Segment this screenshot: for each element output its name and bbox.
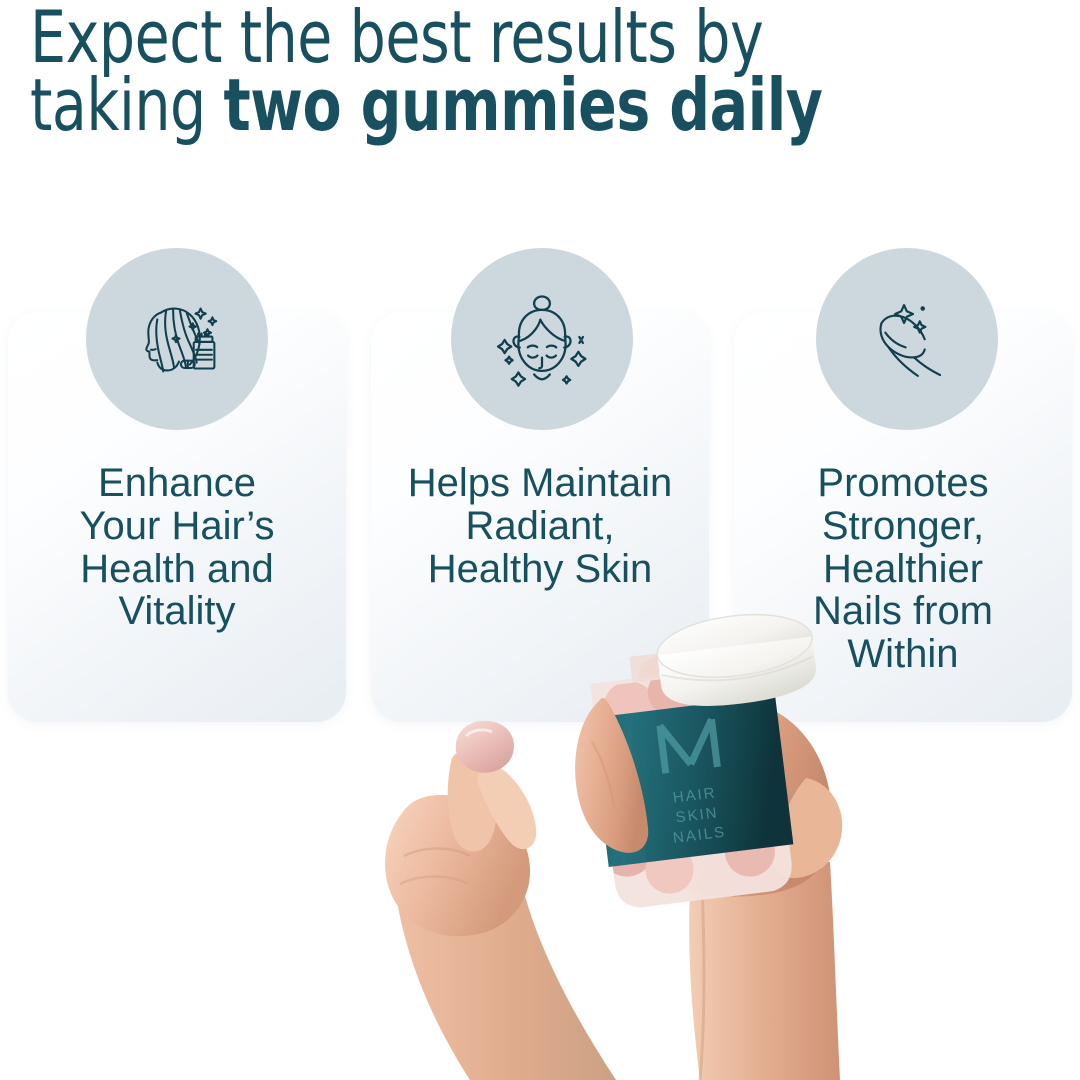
- svg-text:NAILS: NAILS: [672, 823, 727, 846]
- bottle-monogram: [660, 719, 717, 773]
- left-arm: [394, 876, 616, 1080]
- right-arm: [689, 860, 840, 1080]
- page-title: Expect the best results by taking two gu…: [30, 4, 928, 139]
- benefit-text-line: Enhance: [14, 462, 340, 505]
- benefit-card-skin-text: Helps Maintain Radiant, Healthy Skin: [371, 462, 709, 590]
- benefit-text-line: Promotes: [740, 462, 1066, 505]
- headline-line-2-light: taking: [30, 63, 223, 147]
- headline-line-2: taking two gummies daily: [30, 72, 928, 140]
- left-hand: [385, 721, 536, 936]
- headline-line-1: Expect the best results by: [30, 4, 928, 72]
- headline-line-2-bold: two gummies daily: [223, 63, 822, 147]
- held-gummy: [456, 721, 514, 773]
- benefit-text-line: Nails from: [740, 590, 1066, 633]
- svg-text:SKIN: SKIN: [675, 804, 720, 826]
- benefit-text-line: Healthier: [740, 548, 1066, 591]
- radiant-face-icon: [451, 248, 633, 430]
- benefit-text-line: Radiant,: [377, 505, 703, 548]
- benefit-card-hair-text: Enhance Your Hair’s Health and Vitality: [8, 462, 346, 633]
- benefit-text-line: Within: [740, 633, 1066, 676]
- benefit-text-line: Healthy Skin: [377, 548, 703, 591]
- benefit-text-line: Vitality: [14, 590, 340, 633]
- benefit-text-line: Your Hair’s: [14, 505, 340, 548]
- bottle-label-text: HAIR SKIN NAILS: [667, 784, 727, 847]
- benefit-text-line: Stronger,: [740, 505, 1066, 548]
- fingernail-sparkle-icon: [816, 248, 998, 430]
- benefit-card-nails-text: Promotes Stronger, Healthier Nails from …: [734, 462, 1072, 676]
- benefit-text-line: Helps Maintain: [377, 462, 703, 505]
- svg-text:HAIR: HAIR: [672, 784, 718, 806]
- hair-sparkle-bottle-icon: [86, 248, 268, 430]
- benefit-text-line: Health and: [14, 548, 340, 591]
